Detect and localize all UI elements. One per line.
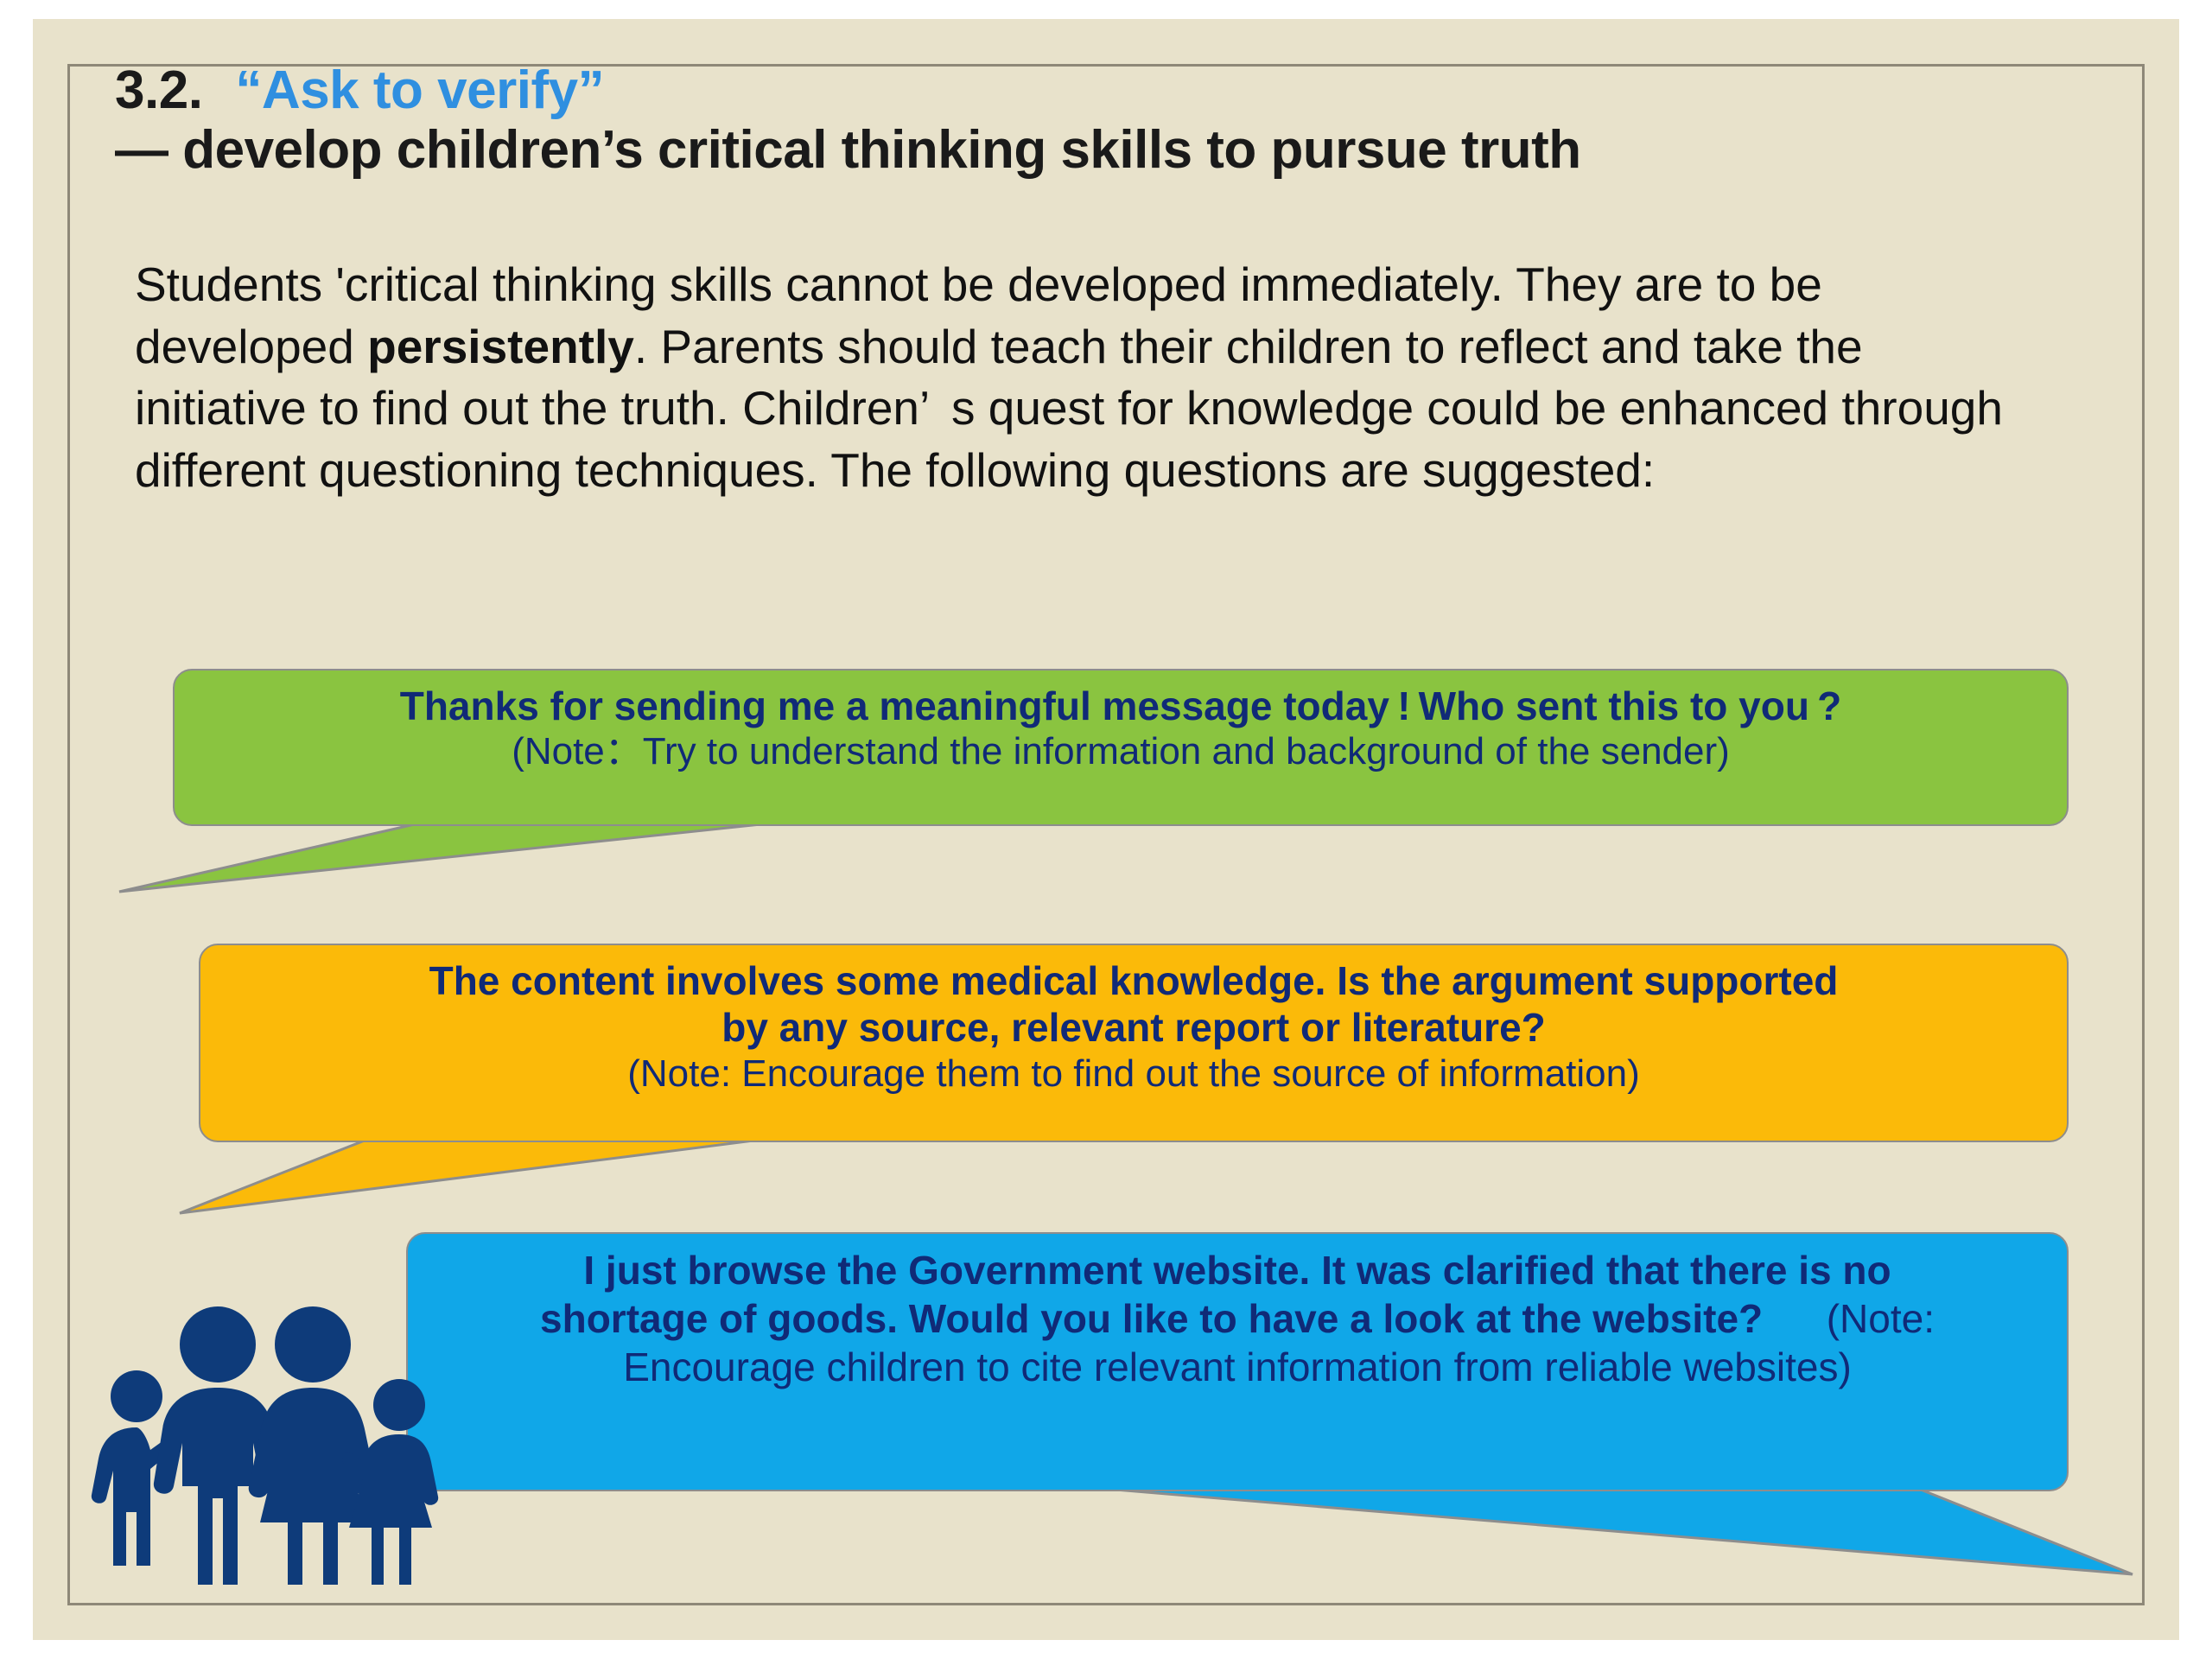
blue-bubble-text: I just browse the Government website. It… [430,1246,2044,1391]
section-number: 3.2. [115,60,202,120]
family-of-four-icon [86,1291,449,1585]
blue-bubble-note-body: Encourage children to cite relevant info… [623,1344,1852,1389]
body-paragraph: Students 'critical thinking skills canno… [135,254,2018,501]
green-bubble-question: Thanks for sending me a meaningful messa… [197,683,2044,729]
section-subtitle: — develop children’s critical thinking s… [115,120,2068,180]
green-bubble-note: (Note：Try to understand the information … [197,729,2044,775]
speech-bubble-green[interactable]: Thanks for sending me a meaningful messa… [173,669,2069,826]
orange-bubble-question-line-1: The content involves some medical knowle… [223,957,2044,1004]
heading-line-1: 3.2.“Ask to verify” [115,60,2068,120]
blue-bubble-question-line-1: I just browse the Government website. It… [583,1248,1891,1293]
orange-bubble-note: (Note: Encourage them to find out the so… [223,1052,2044,1097]
paragraph-bold-word: persistently [367,320,634,373]
blue-bubble-note-label: (Note: [1827,1296,1935,1341]
slide: 3.2.“Ask to verify” — develop children’s… [33,19,2179,1640]
speech-bubble-orange[interactable]: The content involves some medical knowle… [199,944,2069,1142]
section-title-quoted: “Ask to verify” [235,60,604,120]
page-title: 3.2.“Ask to verify” — develop children’s… [115,60,2068,181]
speech-bubble-blue[interactable]: I just browse the Government website. It… [406,1232,2069,1491]
orange-bubble-question-line-2: by any source, relevant report or litera… [223,1004,2044,1051]
blue-bubble-question-line-2: shortage of goods. Would you like to hav… [540,1296,1763,1341]
